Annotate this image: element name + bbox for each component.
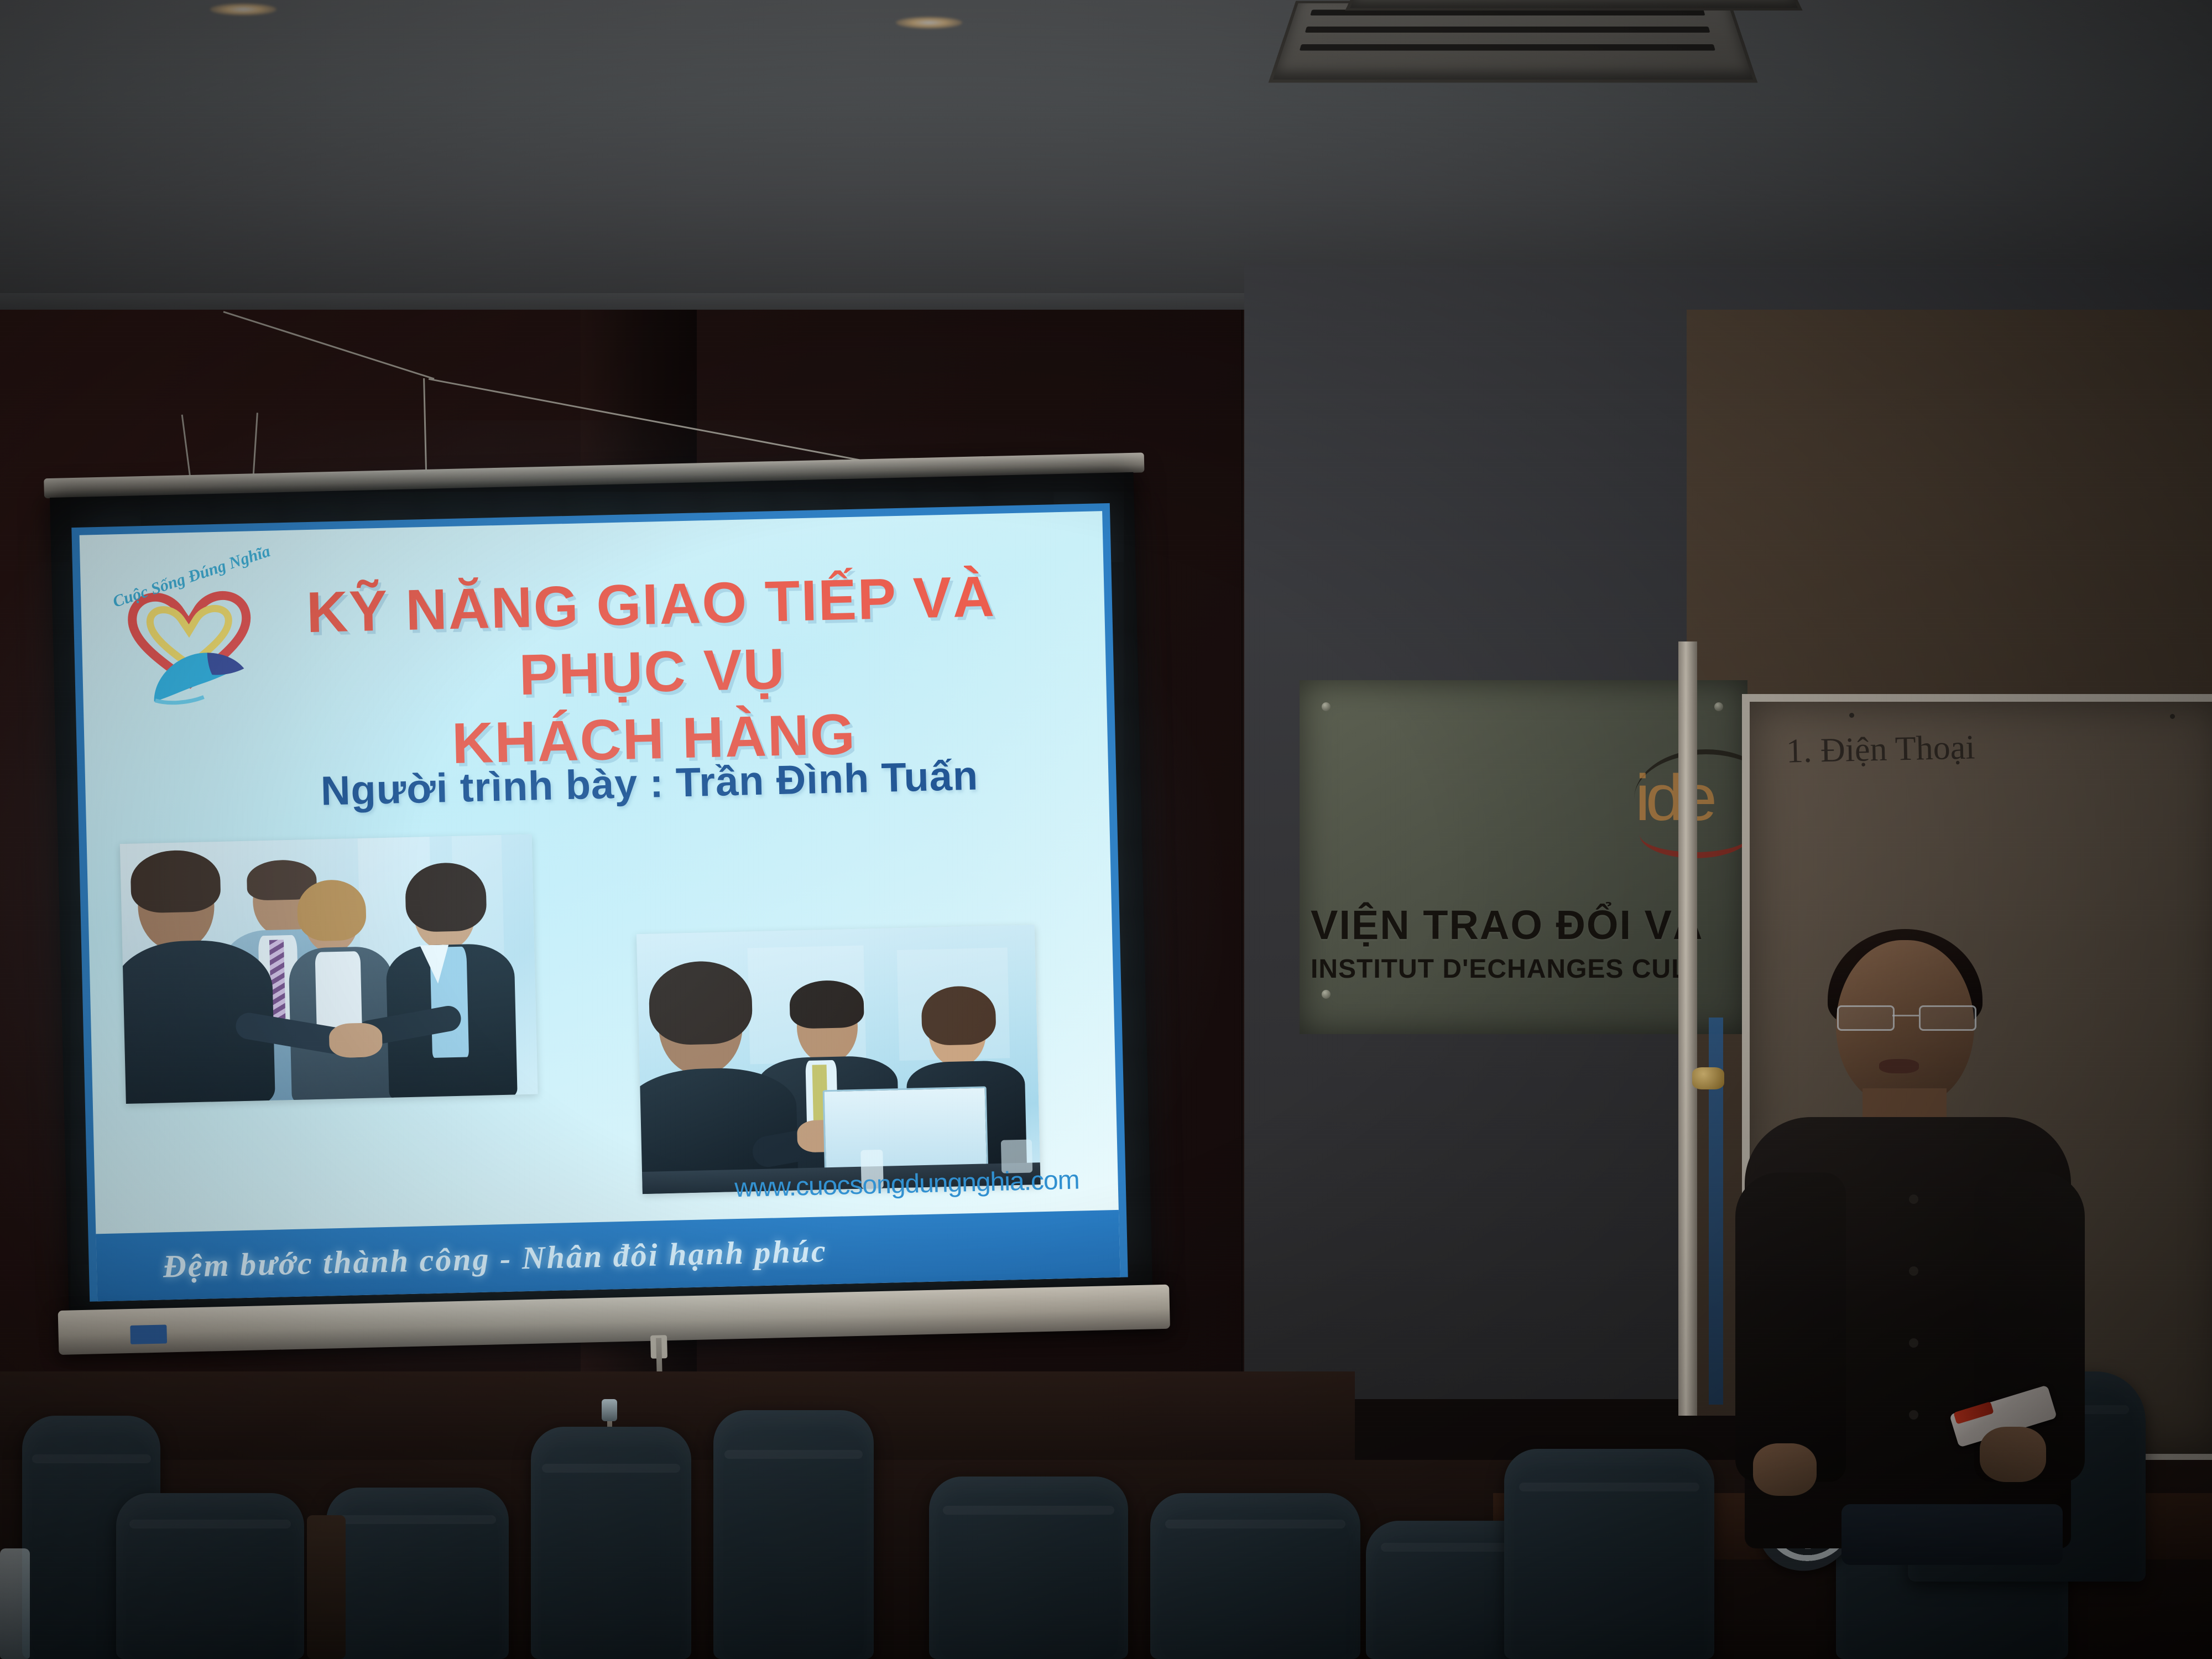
presenter-mouth	[1879, 1059, 1919, 1073]
shirt-button	[1909, 1266, 1918, 1276]
shirt-button	[1909, 1338, 1918, 1348]
air-conditioning-vent-icon	[1269, 1, 1758, 83]
whiteboard-handwritten-note: 1. Điện Thoại	[1786, 728, 1975, 771]
slide-body: Cuộc Sống Đúng Nghĩa KỸ NĂNG GIAO TIẾP V…	[80, 511, 1120, 1301]
screen-brand-label	[130, 1324, 167, 1344]
ceiling-light	[210, 3, 276, 15]
presenter-hand-right	[1980, 1427, 2046, 1482]
shirt-button	[1909, 1194, 1918, 1204]
ceiling-panel	[1345, 0, 1802, 11]
audience-chair[interactable]	[929, 1477, 1128, 1659]
screen-black-border: Cuộc Sống Đúng Nghĩa KỸ NĂNG GIAO TIẾP V…	[50, 472, 1153, 1338]
slide-tagline: Đệm bước thành công - Nhân đôi hạnh phúc	[163, 1232, 827, 1285]
door-frame	[1678, 641, 1697, 1416]
eyeglasses-icon	[1837, 1005, 1974, 1027]
projector-screen: Cuộc Sống Đúng Nghĩa KỸ NĂNG GIAO TIẾP V…	[50, 472, 1153, 1338]
audience-chair[interactable]	[1150, 1493, 1360, 1659]
audience-chair[interactable]	[531, 1427, 691, 1659]
presenter-hand-left	[1753, 1443, 1817, 1496]
slide-title: KỸ NĂNG GIAO TIẾP VÀ PHỤC VỤ KHÁCH HÀNG	[230, 562, 1075, 784]
photograph-scene: ide VIỆN TRAO ĐỔI VĂ INSTITUT D'ECHANGES…	[0, 0, 2212, 1659]
slide-photo-meeting	[637, 925, 1041, 1194]
ceiling-light	[896, 17, 962, 29]
shirt-button	[1909, 1410, 1918, 1420]
microphone-head-icon	[602, 1399, 617, 1421]
water-bottle[interactable]	[0, 1548, 30, 1659]
presenter-legs	[1841, 1504, 2063, 1565]
idecaf-logo: ide	[1635, 760, 1713, 836]
presentation-slide: Cuộc Sống Đúng Nghĩa KỸ NĂNG GIAO TIẾP V…	[71, 503, 1128, 1302]
chair-armrest	[307, 1515, 346, 1659]
audience-chair[interactable]	[1504, 1449, 1714, 1659]
ceiling	[0, 0, 2212, 310]
door-knob-icon[interactable]	[1692, 1067, 1724, 1089]
slide-photo-handshake	[120, 834, 538, 1104]
slide-footer: Đệm bước thành công - Nhân đôi hạnh phúc	[96, 1210, 1120, 1302]
presenter-arm-left	[1735, 1172, 1846, 1482]
audience-chair[interactable]	[326, 1488, 509, 1659]
presenter-person	[1731, 935, 2085, 1543]
audience-chair[interactable]	[116, 1493, 304, 1659]
audience-chair[interactable]	[713, 1410, 874, 1659]
slide-title-line-1: KỸ NĂNG GIAO TIẾP VÀ PHỤC VỤ	[306, 565, 996, 707]
